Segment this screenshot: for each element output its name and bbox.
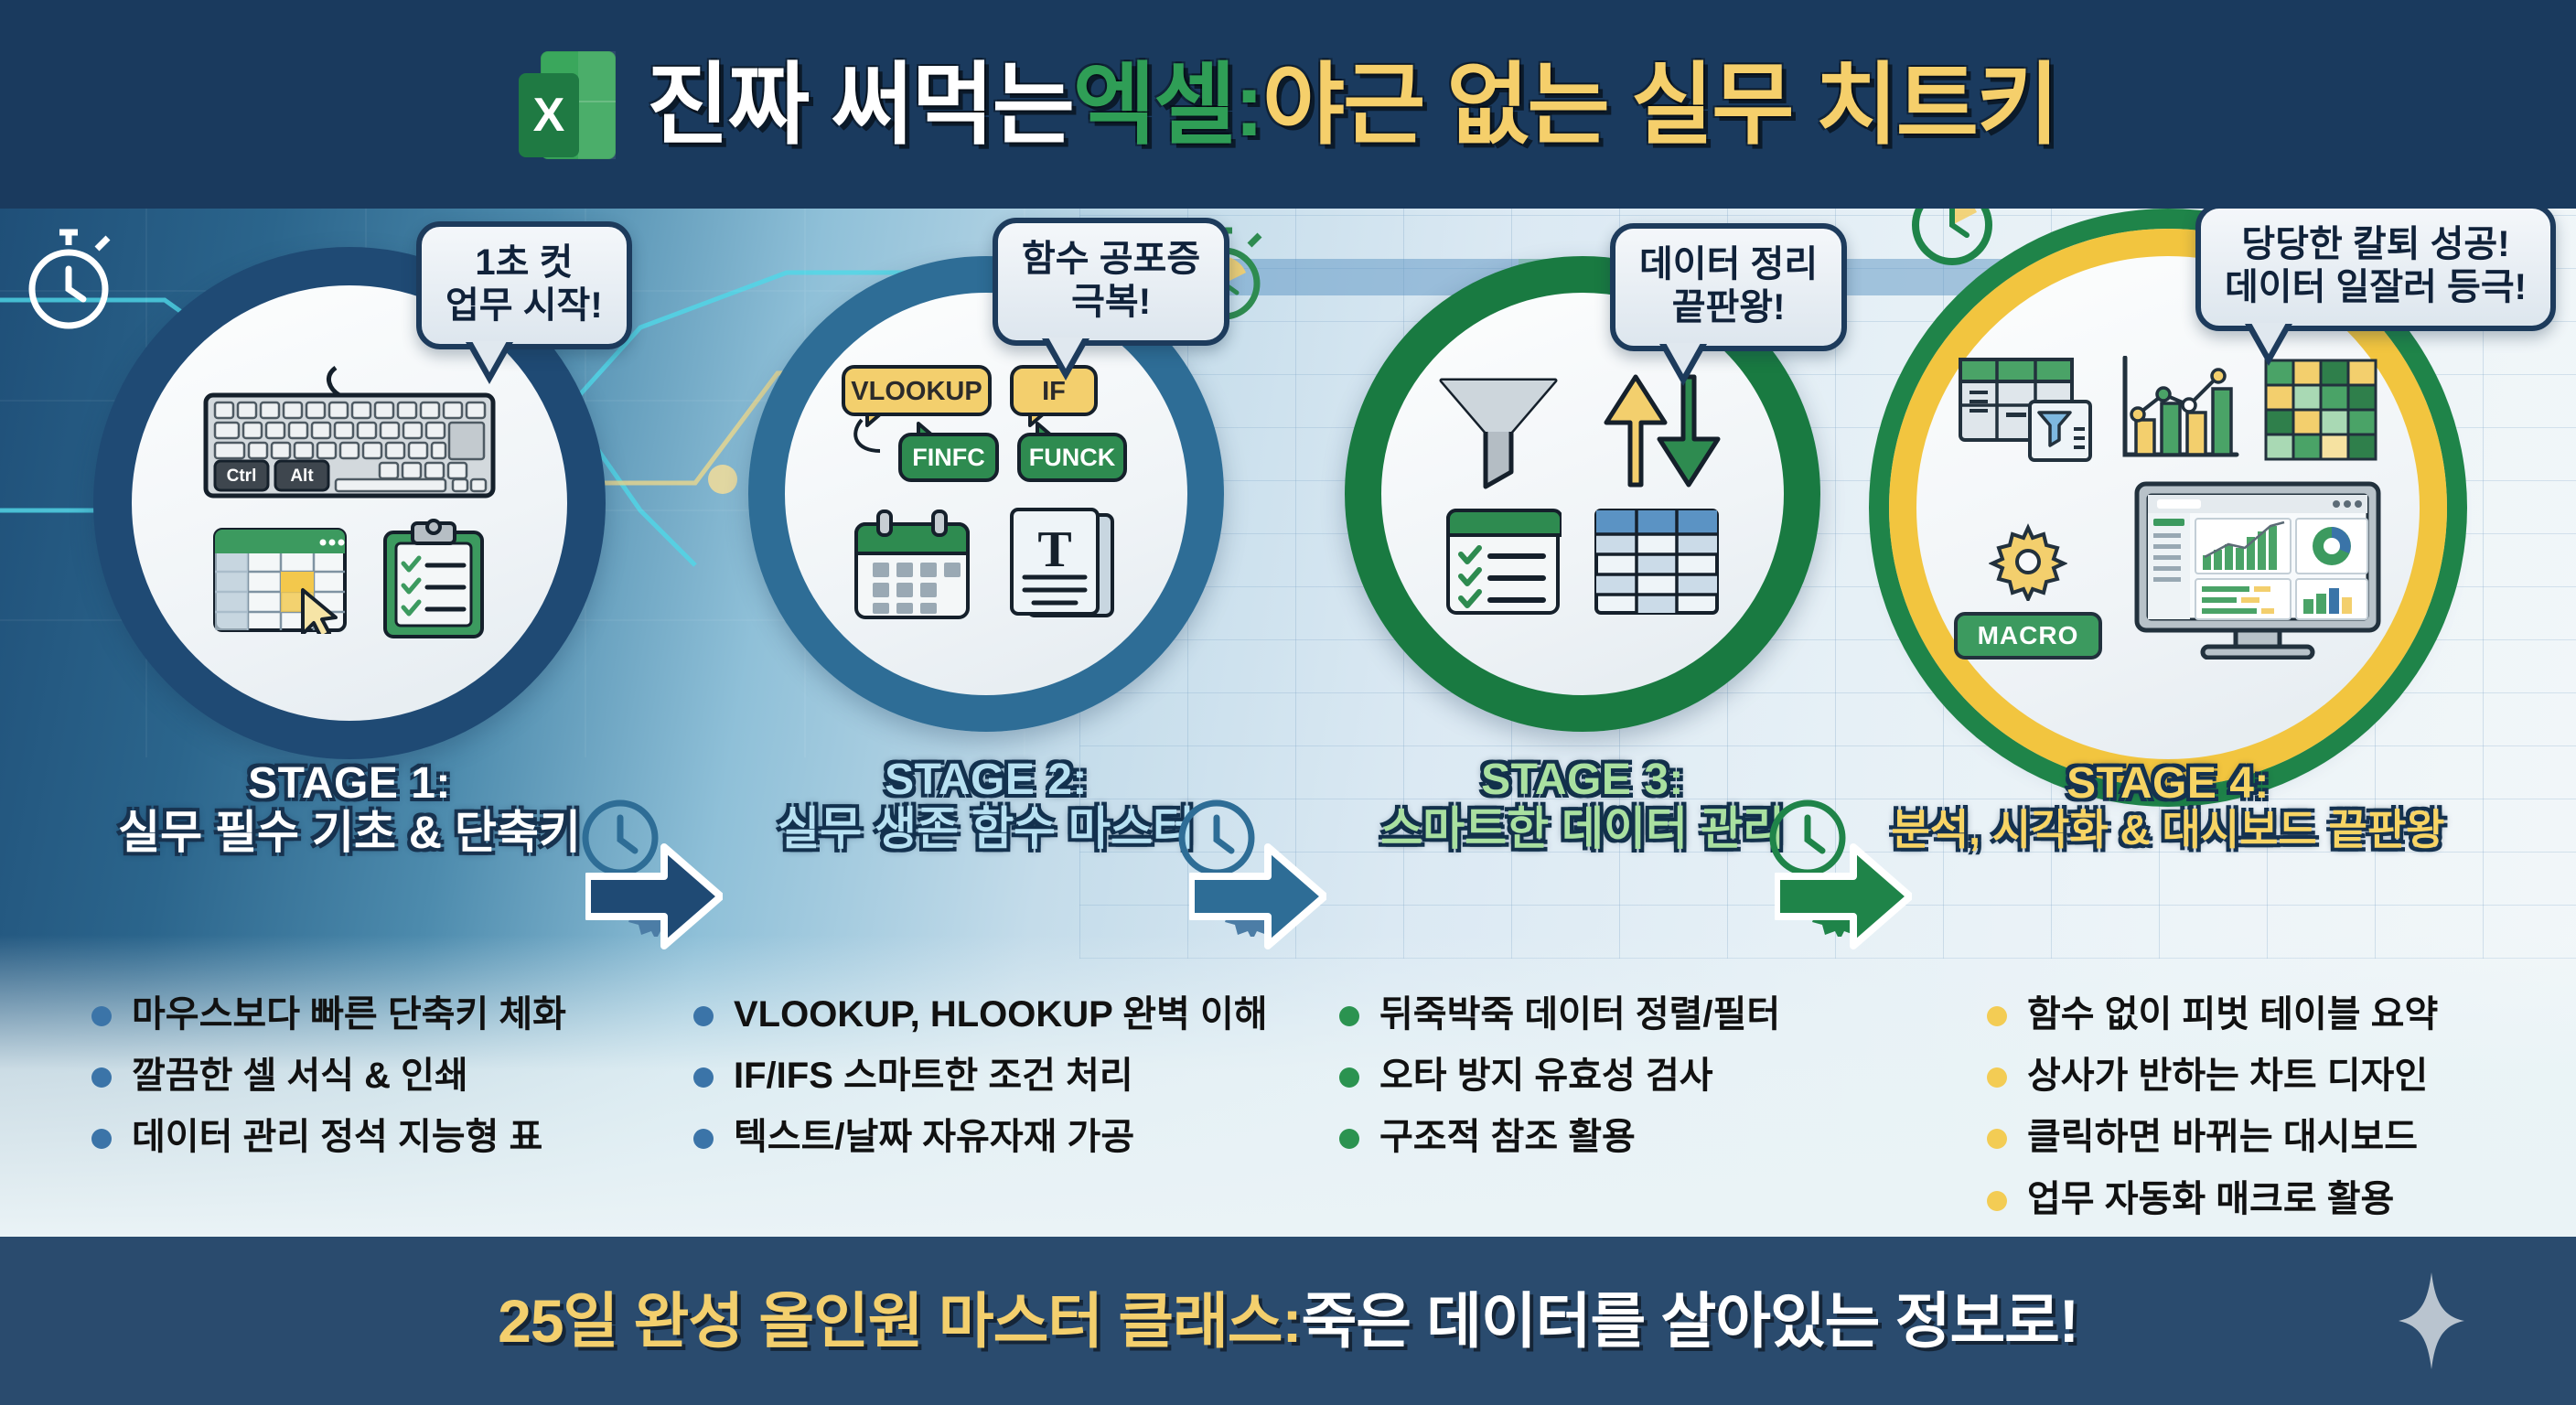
bullet-lists: 마우스보다 빠른 단축키 체화 깔끔한 셀 서식 & 인쇄 데이터 관리 정석 … <box>0 977 2576 1244</box>
stage-4-icons: MACRO <box>1916 256 2420 759</box>
page-title: 진짜 써먹는 엑셀: 야근 없는 실무 치트키 <box>647 59 2057 149</box>
spreadsheet-cursor-icon <box>211 526 349 634</box>
arrow-stage3-to-stage4 <box>1775 840 1912 953</box>
stage-1-callout-line-2: 업무 시작! <box>445 284 603 327</box>
footer-text-part-1: 25일 완성 올인원 마스터 클래스: <box>498 1291 1301 1351</box>
list-item: 함수 없이 피벗 테이블 요약 <box>1987 992 2576 1038</box>
stage-3-bullet-list: 뒤죽박죽 데이터 정렬/필터 오타 방지 유효성 검사 구조적 참조 활용 <box>1288 977 1932 1244</box>
bullet-dot-icon <box>693 1129 714 1149</box>
stage-1-label: STAGE 1: <box>48 761 651 807</box>
stopwatch-icon-1 <box>18 218 119 337</box>
heatmap-icon <box>2264 359 2377 461</box>
list-item: 구조적 참조 활용 <box>1339 1114 1932 1161</box>
ctrl-key-label: Ctrl <box>227 467 257 486</box>
excel-logo-letter: X <box>519 73 579 157</box>
bullet-dot-icon <box>1987 1006 2007 1026</box>
list-item: 뒤죽박죽 데이터 정렬/필터 <box>1339 992 1932 1038</box>
macro-button[interactable]: MACRO <box>1954 612 2103 660</box>
list-item: IF/IFS 스마트한 조건 처리 <box>693 1053 1288 1099</box>
stage-row: Ctrl Alt <box>0 209 2576 977</box>
footer-text-part-2: 죽은 데이터를 살아있는 정보로! <box>1302 1291 2078 1351</box>
stage-4-bullet-list: 함수 없이 피벗 테이블 요약 상사가 반하는 차트 디자인 클릭하면 바뀌는 … <box>1932 977 2576 1244</box>
stage-2-bullet-list: VLOOKUP, HLOOKUP 완벽 이해 IF/IFS 스마트한 조건 처리… <box>644 977 1288 1244</box>
clipboard-checklist-icon <box>380 518 488 642</box>
page-title-part-2: 엑셀: <box>1073 59 1262 149</box>
stage-2-icons: VLOOKUP IF FINFC FUNCK <box>785 293 1187 695</box>
stage-2-callout-line-1: 함수 공포증 <box>1022 238 1200 281</box>
data-table-icon <box>1593 507 1721 617</box>
text-document-icon: T <box>1004 508 1122 625</box>
bullet-dot-icon <box>1339 1067 1359 1088</box>
keyboard-icon: Ctrl Alt <box>199 364 500 501</box>
bullet-dot-icon <box>1987 1129 2007 1149</box>
stage-2-callout-line-2: 극복! <box>1022 281 1200 324</box>
arrow-stage2-to-stage3 <box>1189 840 1326 953</box>
stage-1-callout: 1초 컷 업무 시작! <box>416 221 632 349</box>
validation-checklist-icon <box>1444 507 1562 617</box>
header-banner: X 진짜 써먹는 엑셀: 야근 없는 실무 치트키 <box>0 0 2576 209</box>
stage-4-callout: 당당한 칼퇴 성공! 데이터 일잘러 등극! <box>2195 203 2556 331</box>
funnel-filter-icon <box>1434 371 1562 490</box>
if-tag-label: IF <box>1042 377 1066 406</box>
infographic-canvas: X 진짜 써먹는 엑셀: 야근 없는 실무 치트키 <box>0 0 2576 1405</box>
bullet-dot-icon <box>91 1006 112 1026</box>
stage-1-title: 실무 필수 기초 & 단축키 <box>48 807 651 858</box>
list-item: 업무 자동화 매크로 활용 <box>1987 1176 2576 1223</box>
bullet-dot-icon <box>693 1067 714 1088</box>
stage-3-callout-line-2: 끝판왕! <box>1639 286 1818 329</box>
stage-4-callout-line-1: 당당한 칼퇴 성공! <box>2225 223 2527 266</box>
alt-key-label: Alt <box>290 467 314 486</box>
vlookup-tag-label: VLOOKUP <box>851 377 982 406</box>
stage-4-title: 분석, 시각화 & 대시보드 끝판왕 <box>1866 807 2470 854</box>
bullet-dot-icon <box>1987 1067 2007 1088</box>
bullet-dot-icon <box>1339 1006 1359 1026</box>
list-item: 데이터 관리 정석 지능형 표 <box>91 1114 644 1161</box>
sort-arrows-icon <box>1594 371 1731 490</box>
stage-4-label: STAGE 4: <box>1866 761 2470 807</box>
stage-4-caption: STAGE 4: 분석, 시각화 & 대시보드 끝판왕 <box>1866 761 2470 854</box>
stage-1-callout-line-1: 1초 컷 <box>445 241 603 284</box>
list-item: 클릭하면 바뀌는 대시보드 <box>1987 1114 2576 1161</box>
calendar-icon <box>851 509 973 623</box>
funck-tag-label: FUNCK <box>1029 444 1116 471</box>
excel-logo-icon: X <box>519 46 616 163</box>
bullet-dot-icon <box>91 1129 112 1149</box>
list-item: VLOOKUP, HLOOKUP 완벽 이해 <box>693 992 1288 1038</box>
stage-3-icons <box>1381 293 1784 695</box>
pivot-table-icon <box>1959 356 2094 464</box>
page-title-part-3: 야근 없는 실무 치트키 <box>1262 59 2057 149</box>
footer-banner: 25일 완성 올인원 마스터 클래스: 죽은 데이터를 살아있는 정보로! <box>0 1237 2576 1405</box>
stage-4-callout-line-2: 데이터 일잘러 등극! <box>2225 266 2527 309</box>
stage-3-callout: 데이터 정리 끝판왕! <box>1610 223 1847 351</box>
sort-down-arrow-icon <box>1659 377 1718 485</box>
function-tag-icon: VLOOKUP IF FINFC FUNCK <box>840 363 1132 491</box>
sort-up-arrow-icon <box>1606 377 1665 485</box>
list-item: 깔끔한 셀 서식 & 인쇄 <box>91 1053 644 1099</box>
list-item: 상사가 반하는 차트 디자인 <box>1987 1053 2576 1099</box>
bullet-dot-icon <box>91 1067 112 1088</box>
stage-3-callout-line-1: 데이터 정리 <box>1639 243 1818 286</box>
list-item: 마우스보다 빠른 단축키 체화 <box>91 992 644 1038</box>
page-title-part-1: 진짜 써먹는 <box>647 59 1073 149</box>
bullet-dot-icon <box>1987 1191 2007 1211</box>
stage-1-bullet-list: 마우스보다 빠른 단축키 체화 깔끔한 셀 서식 & 인쇄 데이터 관리 정석 … <box>0 977 644 1244</box>
footer-text: 25일 완성 올인원 마스터 클래스: 죽은 데이터를 살아있는 정보로! <box>498 1291 2078 1351</box>
bar-line-chart-icon <box>2118 356 2240 464</box>
gear-icon <box>1989 522 2067 601</box>
list-item: 텍스트/날짜 자유자재 가공 <box>693 1114 1288 1161</box>
svg-text:T: T <box>1037 521 1071 578</box>
finfc-tag-label: FINFC <box>912 444 984 471</box>
dashboard-monitor-icon <box>2133 480 2382 660</box>
arrow-stage1-to-stage2 <box>585 840 723 953</box>
bullet-dot-icon <box>693 1006 714 1026</box>
sparkle-icon <box>2397 1271 2466 1371</box>
bullet-dot-icon <box>1339 1129 1359 1149</box>
stage-1-caption: STAGE 1: 실무 필수 기초 & 단축키 <box>48 761 651 858</box>
list-item: 오타 방지 유효성 검사 <box>1339 1053 1932 1099</box>
stage-2-callout: 함수 공포증 극복! <box>993 218 1229 346</box>
